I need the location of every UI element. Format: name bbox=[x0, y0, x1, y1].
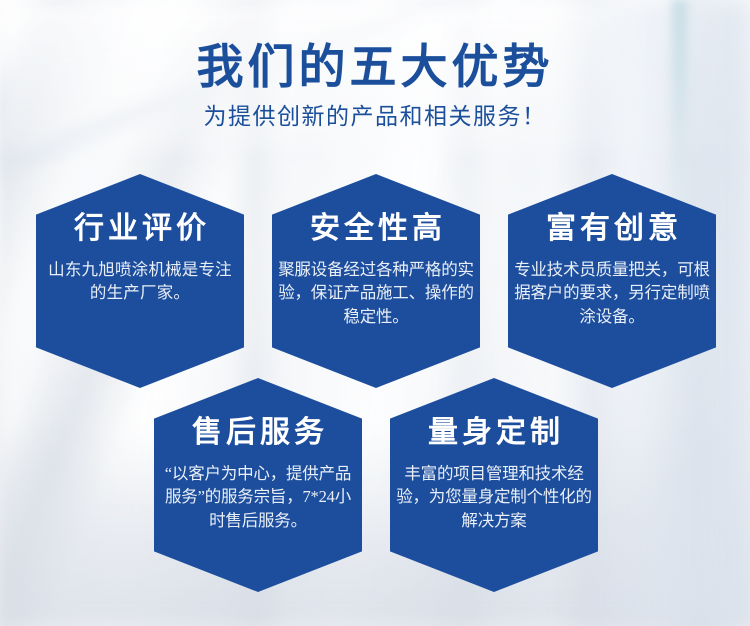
advantage-title: 富有创意 bbox=[542, 214, 682, 244]
page-title: 我们的五大优势 bbox=[0, 44, 750, 94]
advantage-description: 山东九旭喷涂机械是专注的生产厂家。 bbox=[42, 258, 238, 305]
advantage-description: 丰富的项目管理和技术经验，为您量身定制个性化的解决方案 bbox=[396, 462, 592, 532]
advantage-description: “以客户为中心，提供产品服务”的服务宗旨，7*24小时售后服务。 bbox=[160, 462, 356, 532]
advantage-title: 量身定制 bbox=[424, 418, 564, 448]
advantage-hexagon-high-safety: 安全性高 聚脲设备经过各种严格的实验，保证产品施工、操作的稳定性。 bbox=[272, 174, 480, 388]
advantages-banner: 我们的五大优势 为提供创新的产品和相关服务！ 行业评价 山东九旭喷涂机械是专注的… bbox=[0, 0, 750, 626]
advantage-hexagon-creative: 富有创意 专业技术员质量把关，可根据客户的要求，另行定制喷涂设备。 bbox=[508, 174, 716, 388]
page-subtitle: 为提供创新的产品和相关服务！ bbox=[0, 104, 750, 129]
advantage-title: 安全性高 bbox=[306, 214, 446, 244]
advantage-hexagon-industry-evaluation: 行业评价 山东九旭喷涂机械是专注的生产厂家。 bbox=[36, 174, 244, 388]
advantage-hexagon-tailor-made: 量身定制 丰富的项目管理和技术经验，为您量身定制个性化的解决方案 bbox=[390, 378, 598, 592]
banner-heading-block: 我们的五大优势 为提供创新的产品和相关服务！ bbox=[0, 44, 750, 129]
advantage-title: 行业评价 bbox=[70, 214, 210, 244]
advantage-description: 专业技术员质量把关，可根据客户的要求，另行定制喷涂设备。 bbox=[514, 258, 710, 328]
advantage-hexagon-after-sales-service: 售后服务 “以客户为中心，提供产品服务”的服务宗旨，7*24小时售后服务。 bbox=[154, 378, 362, 592]
advantage-title: 售后服务 bbox=[188, 418, 328, 448]
background-photo-floor bbox=[0, 430, 750, 626]
advantage-description: 聚脲设备经过各种严格的实验，保证产品施工、操作的稳定性。 bbox=[278, 258, 474, 328]
